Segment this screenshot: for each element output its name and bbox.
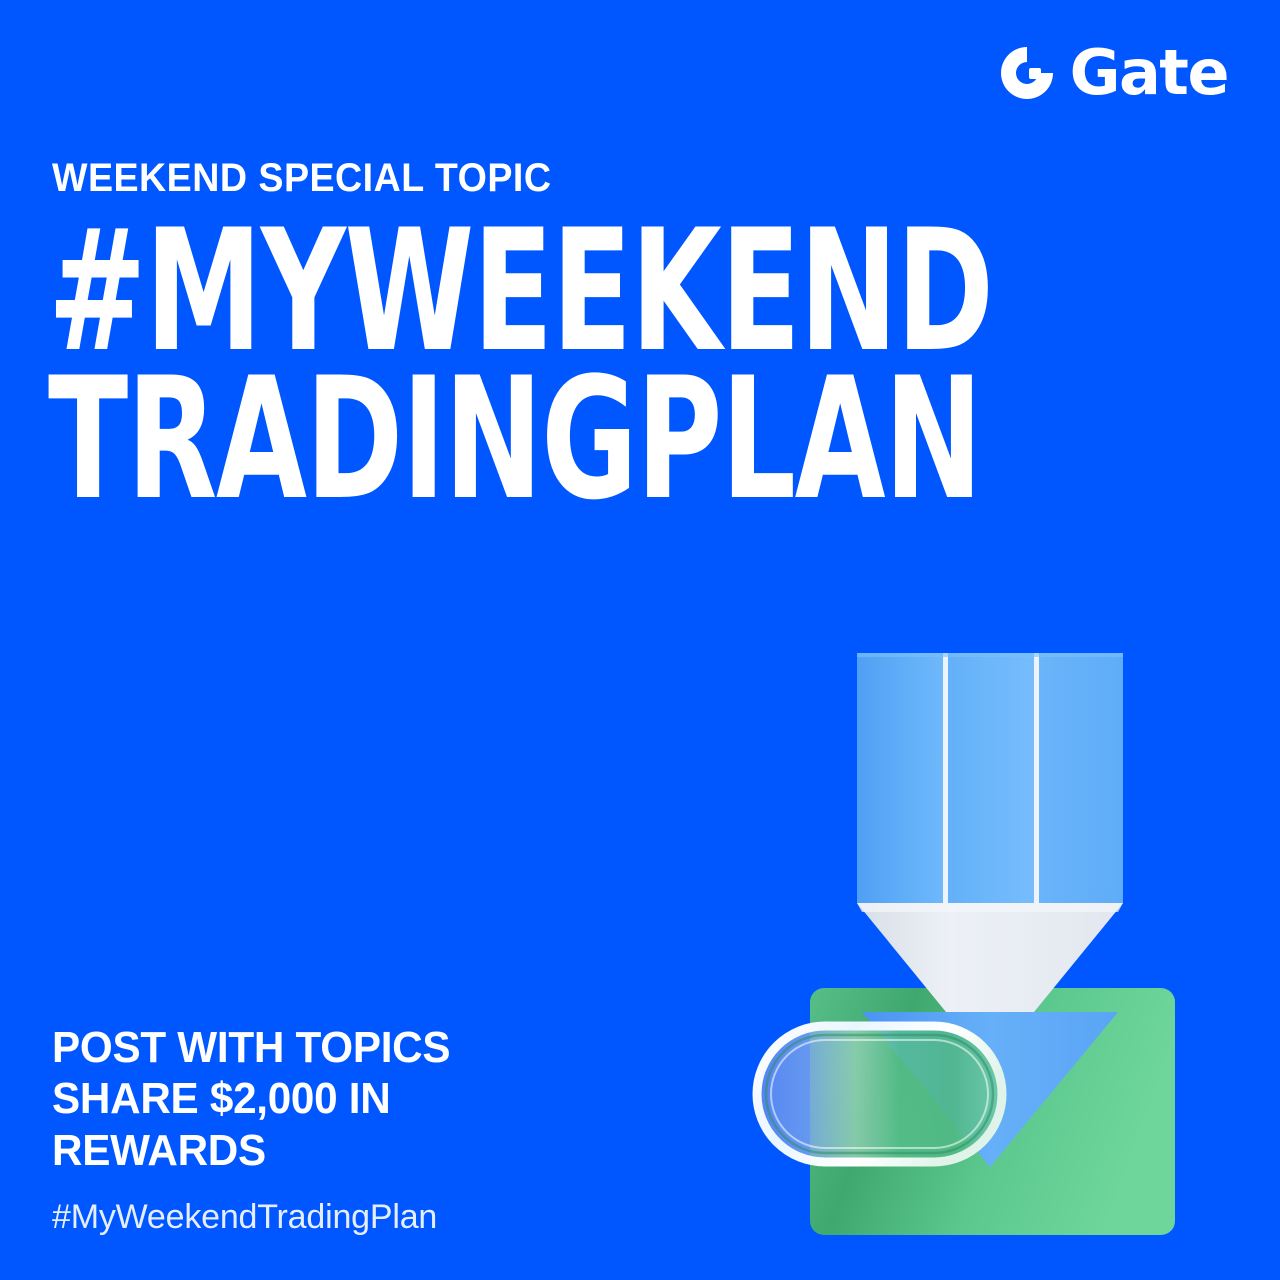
promo-line-3: REWARDS [52, 1125, 450, 1176]
campaign-hashtag: #MyWeekendTradingPlan [52, 1200, 437, 1234]
headline-line-2: TRADINGPLAN [48, 366, 993, 514]
eyebrow-text: WEEKEND SPECIAL TOPIC [52, 158, 551, 198]
pencil-point [862, 1012, 1118, 1167]
green-card [810, 988, 1175, 1235]
page-title: #MYWEEKEND TRADINGPLAN [48, 218, 1280, 514]
pencil-cone [857, 903, 1123, 1012]
pencil-body [857, 653, 1123, 903]
promo-line-1: POST WITH TOPICS [52, 1022, 450, 1073]
promo-line-2: SHARE $2,000 IN [52, 1073, 450, 1124]
gate-circle-mark-icon [998, 44, 1056, 102]
poster-canvas: Gate WEEKEND SPECIAL TOPIC #MYWEEKEND TR… [0, 0, 1280, 1280]
glass-capsule [757, 1026, 1002, 1162]
promo-copy: POST WITH TOPICS SHARE $2,000 IN REWARDS [52, 1022, 467, 1176]
brand-logo: Gate [998, 44, 1228, 102]
brand-wordmark: Gate [1070, 45, 1228, 101]
